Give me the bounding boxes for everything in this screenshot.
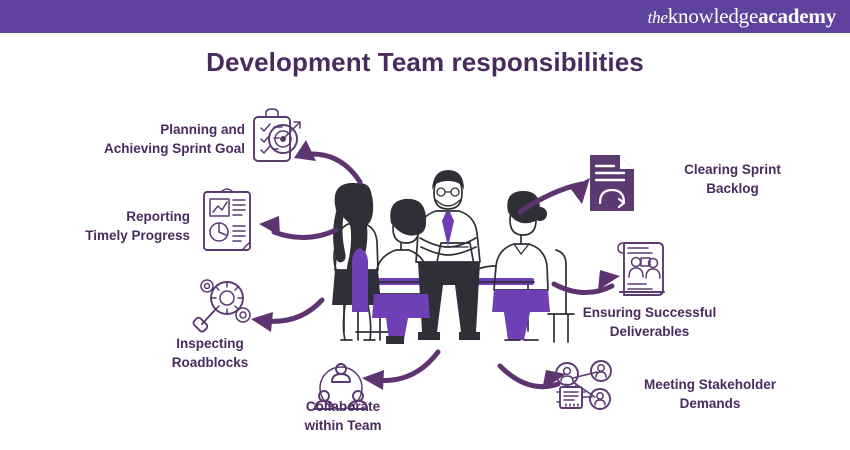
arrow-to-collaborate [362,352,438,390]
arrow-to-planning [294,140,360,182]
document-refresh-icon [590,155,634,211]
clipboard-target-icon [254,109,300,161]
node-label-reporting: Reporting Timely Progress [45,207,190,245]
node-label-clearing-backlog: Clearing Sprint Backlog [650,160,815,198]
responsibilities-diagram: .ln { fill:none; stroke:#2F2F38; stroke-… [0,0,850,450]
node-label-inspecting: Inspecting Roadblocks [120,334,300,372]
center-illustration [332,170,574,344]
node-label-meeting-stakeholder: Meeting Stakeholder Demands [620,375,800,413]
arrow-to-reporting [259,216,336,238]
report-chart-icon [204,189,250,250]
magnifier-gears-icon [192,280,250,333]
arrow-to-ensuring [554,270,620,293]
node-label-collaborate: Collaborate within Team [258,397,428,435]
node-label-ensuring-deliverables: Ensuring Successful Deliverables [562,303,737,341]
node-label-planning: Planning and Achieving Sprint Goal [60,120,245,158]
presentation-delivery-icon [618,243,664,295]
stakeholder-network-icon [556,361,611,409]
arrow-to-inspecting [251,300,322,332]
